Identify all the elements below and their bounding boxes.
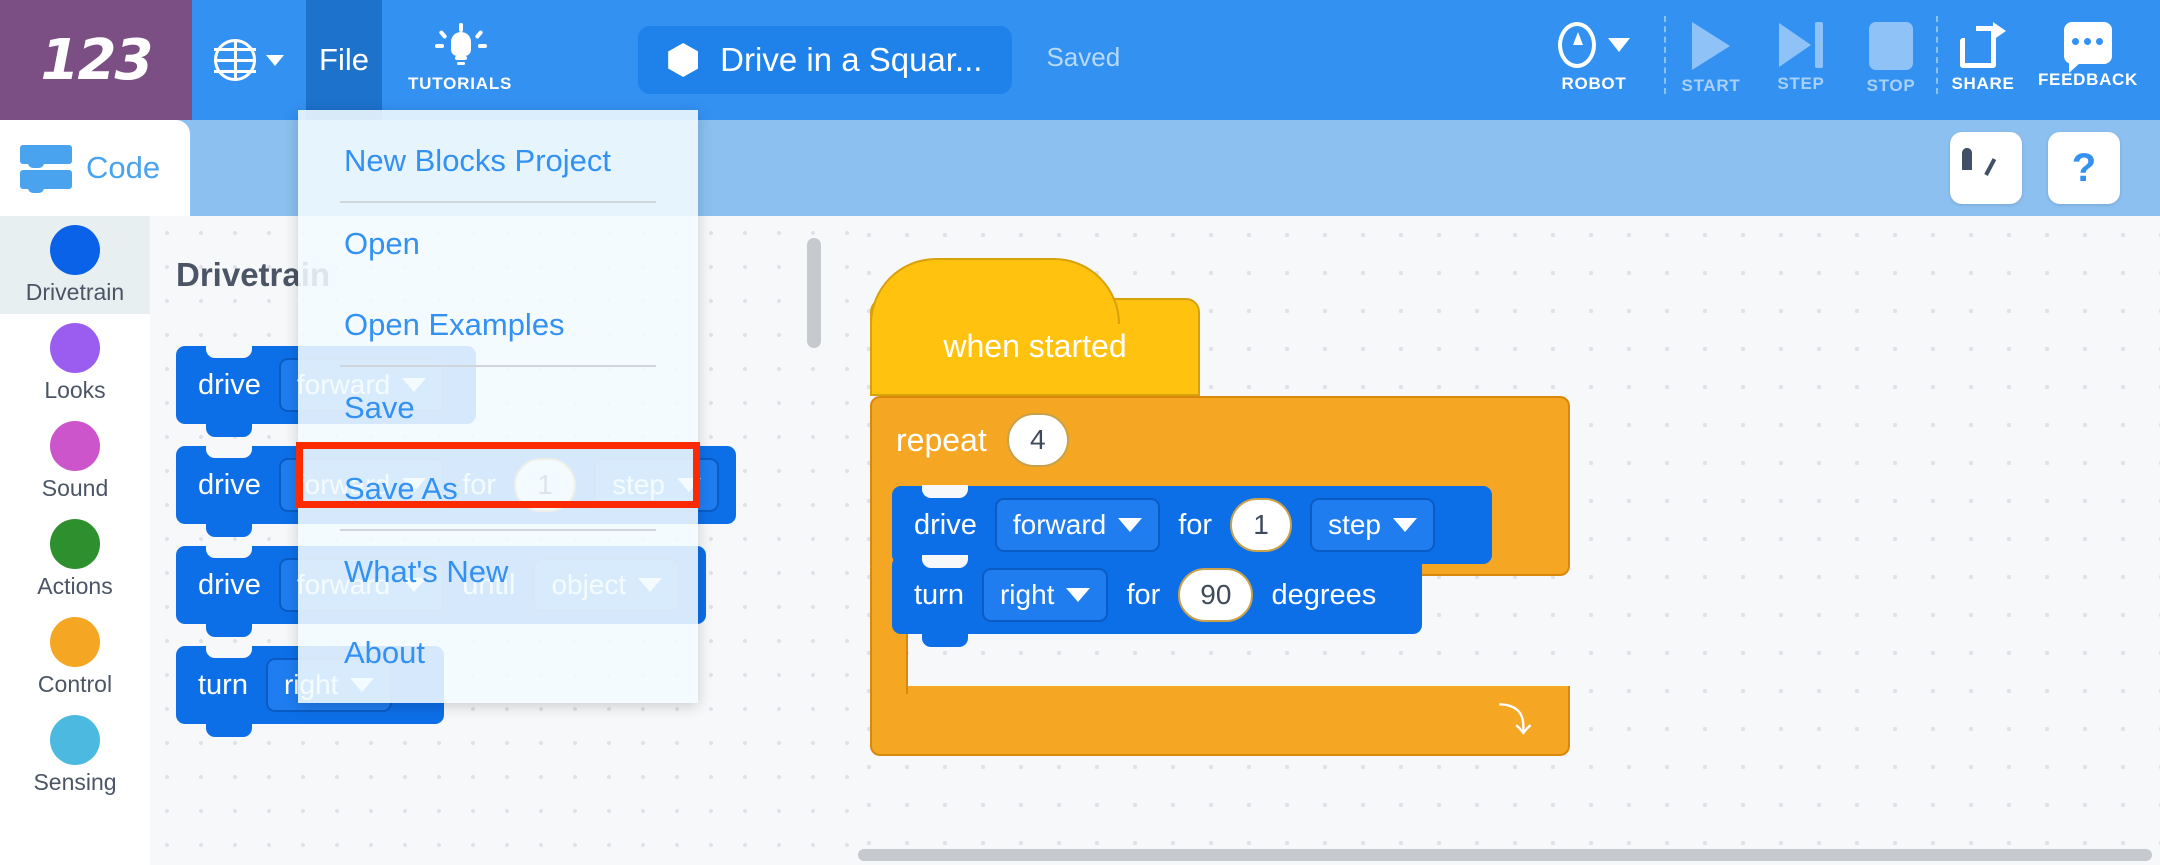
chevron-down-icon bbox=[1393, 518, 1417, 532]
sidebar-item-looks[interactable]: Looks bbox=[0, 314, 150, 412]
menu-item-whats-new[interactable]: What's New bbox=[298, 531, 698, 612]
block-dropdown-direction[interactable]: forward bbox=[995, 498, 1160, 552]
robot-button[interactable]: ROBOT bbox=[1524, 0, 1664, 94]
feedback-icon bbox=[2064, 22, 2112, 64]
block-label: when started bbox=[872, 328, 1198, 365]
file-dropdown-menu[interactable]: New Blocks Project Open Open Examples Sa… bbox=[298, 110, 698, 703]
robot-label: ROBOT bbox=[1562, 74, 1627, 94]
code-blocks-icon bbox=[20, 145, 72, 191]
save-status: Saved bbox=[1046, 42, 1120, 120]
block-connector-word: for bbox=[1126, 579, 1160, 612]
menu-item-open[interactable]: Open bbox=[298, 203, 698, 284]
block-verb: drive bbox=[198, 369, 261, 402]
menu-item-about[interactable]: About bbox=[298, 612, 698, 693]
code-workspace[interactable]: when started repeat 4 ⤵ drive forward fo… bbox=[850, 216, 2160, 865]
dropdown-value: right bbox=[1000, 579, 1054, 611]
subbar-actions: ? bbox=[1950, 132, 2120, 204]
file-menu-button[interactable]: File bbox=[306, 0, 382, 120]
category-color-dot bbox=[50, 715, 100, 765]
menu-item-new-blocks-project[interactable]: New Blocks Project bbox=[298, 120, 698, 201]
dropdown-value: forward bbox=[1013, 509, 1106, 541]
sidebar-item-sensing[interactable]: Sensing bbox=[0, 706, 150, 804]
share-button[interactable]: SHARE bbox=[1938, 0, 2028, 94]
sidebar-item-label: Drivetrain bbox=[26, 279, 124, 306]
block-verb: turn bbox=[914, 579, 964, 612]
stop-icon bbox=[1869, 22, 1913, 70]
block-verb: turn bbox=[198, 669, 248, 702]
toolbar-actions: ROBOT START STEP STOP bbox=[1524, 0, 2148, 120]
category-color-dot bbox=[50, 421, 100, 471]
sidebar-item-label: Looks bbox=[44, 377, 105, 404]
block-dropdown-direction[interactable]: right bbox=[982, 568, 1108, 622]
app-root: 123 File TUTORIALS Drive in a Squar... S… bbox=[0, 0, 2160, 865]
tutorials-button[interactable]: TUTORIALS bbox=[382, 0, 538, 120]
dropdown-value: step bbox=[1328, 509, 1381, 541]
share-label: SHARE bbox=[1951, 74, 2014, 94]
block-verb: drive bbox=[198, 469, 261, 502]
category-color-dot bbox=[50, 617, 100, 667]
stop-label: STOP bbox=[1867, 76, 1916, 96]
help-button[interactable]: ? bbox=[2048, 132, 2120, 204]
sidebar-item-actions[interactable]: Actions bbox=[0, 510, 150, 608]
sidebar-item-label: Control bbox=[38, 671, 112, 698]
chevron-down-icon bbox=[1608, 38, 1630, 52]
category-color-dot bbox=[50, 519, 100, 569]
tab-code[interactable]: Code bbox=[0, 120, 190, 216]
block-when-started[interactable]: when started bbox=[870, 298, 1200, 396]
category-color-dot bbox=[50, 323, 100, 373]
category-color-dot bbox=[50, 225, 100, 275]
sidebar-item-label: Actions bbox=[37, 573, 112, 600]
block-number-input[interactable]: 1 bbox=[1230, 498, 1292, 552]
block-dropdown-unit[interactable]: step bbox=[1310, 498, 1435, 552]
chevron-down-icon bbox=[1118, 518, 1142, 532]
question-mark-icon: ? bbox=[2072, 146, 2096, 191]
menu-item-save[interactable]: Save bbox=[298, 367, 698, 448]
vertical-scrollbar-thumb[interactable] bbox=[807, 238, 821, 348]
robot-icon bbox=[1558, 22, 1596, 68]
play-icon bbox=[1692, 22, 1730, 70]
chevron-down-icon bbox=[266, 55, 284, 66]
block-verb: drive bbox=[198, 569, 261, 602]
step-label: STEP bbox=[1777, 74, 1824, 94]
app-logo: 123 bbox=[0, 0, 192, 120]
menu-item-open-examples[interactable]: Open Examples bbox=[298, 284, 698, 365]
tab-code-label: Code bbox=[86, 150, 160, 186]
category-rail: Drivetrain Looks Sound Actions Control S… bbox=[0, 216, 150, 865]
block-label: repeat bbox=[896, 422, 987, 459]
dashboard-button[interactable] bbox=[1950, 132, 2022, 204]
share-icon bbox=[1960, 22, 2006, 68]
start-label: START bbox=[1682, 76, 1741, 96]
block-verb: drive bbox=[914, 509, 977, 542]
sidebar-item-drivetrain[interactable]: Drivetrain bbox=[0, 216, 150, 314]
feedback-label: FEEDBACK bbox=[2038, 70, 2138, 90]
globe-icon bbox=[214, 39, 256, 81]
feedback-button[interactable]: FEEDBACK bbox=[2028, 0, 2148, 90]
start-button[interactable]: START bbox=[1666, 0, 1756, 96]
sidebar-item-sound[interactable]: Sound bbox=[0, 412, 150, 510]
logo-text: 123 bbox=[41, 28, 152, 93]
block-connector-word: for bbox=[1178, 509, 1212, 542]
sidebar-item-label: Sound bbox=[42, 475, 109, 502]
block-drive-forward-for-1-step[interactable]: drive forward for 1 step bbox=[892, 486, 1492, 564]
hexagon-icon bbox=[668, 43, 698, 77]
menu-item-save-as[interactable]: Save As bbox=[298, 448, 698, 529]
block-unit-label: degrees bbox=[1271, 579, 1376, 612]
language-selector[interactable] bbox=[192, 0, 306, 120]
repeat-footer: ⤵ bbox=[870, 686, 1570, 756]
stop-button[interactable]: STOP bbox=[1846, 0, 1936, 96]
hat-dome bbox=[870, 258, 1120, 324]
block-number-input[interactable]: 90 bbox=[1178, 568, 1253, 622]
repeat-header: repeat 4 bbox=[872, 398, 1568, 482]
chevron-down-icon bbox=[1066, 588, 1090, 602]
loop-arrow-icon: ⤵ bbox=[1498, 693, 1532, 742]
step-button[interactable]: STEP bbox=[1756, 0, 1846, 94]
project-title-button[interactable]: Drive in a Squar... bbox=[638, 26, 1012, 94]
sidebar-item-label: Sensing bbox=[33, 769, 116, 796]
block-turn-right-for-90-degrees[interactable]: turn right for 90 degrees bbox=[892, 556, 1422, 634]
step-icon bbox=[1779, 22, 1823, 68]
horizontal-scrollbar[interactable] bbox=[850, 849, 2160, 861]
repeat-count-input[interactable]: 4 bbox=[1007, 413, 1069, 467]
project-title: Drive in a Squar... bbox=[720, 41, 982, 79]
lightbulb-icon bbox=[437, 26, 483, 72]
tutorials-label: TUTORIALS bbox=[408, 74, 512, 94]
top-toolbar: 123 File TUTORIALS Drive in a Squar... S… bbox=[0, 0, 2160, 120]
sidebar-item-control[interactable]: Control bbox=[0, 608, 150, 706]
gauge-icon bbox=[1962, 153, 2010, 183]
